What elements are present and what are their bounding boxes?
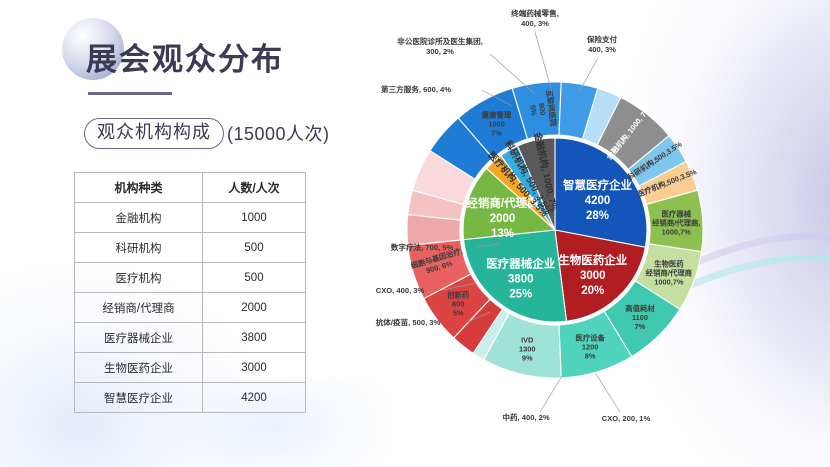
table-row: 医疗机构500 [75, 263, 306, 293]
outer-label-6-0: 医疗器械 [661, 209, 691, 218]
outer-label-8-0: 高值耗材 [625, 304, 655, 313]
callout-nonpublic-hospital-line1: 300, 2% [426, 47, 454, 56]
outer-label-13-2: 5% [453, 308, 464, 317]
callout-digital-therapy-line0: 数字疗法, 700, 5% [391, 242, 454, 252]
callout-cxo-device-line0: CXO, 200, 1% [602, 414, 651, 423]
inner-label-value-3: 2000 [490, 213, 516, 225]
cell-value: 2000 [203, 293, 306, 323]
sunburst-chart: 金融机构, 1000, 7%科研机构,500,3.5%医疗机构,500,3.5%… [330, 0, 830, 467]
outer-label-7-0: 生物医药 [654, 259, 684, 268]
outer-label-10-0: IVD [521, 335, 534, 344]
outer-label-20-2: 5% [528, 104, 538, 116]
cell-name: 医疗器械企业 [75, 323, 203, 353]
outer-label-10-2: 9% [522, 353, 533, 362]
inner-label-pct-3: 13% [491, 228, 514, 240]
outer-label-7-2: 1000,7% [654, 277, 684, 286]
callout-insurance-line0: 保险支付 [586, 34, 618, 44]
cell-name: 智慧医疗企业 [75, 383, 203, 413]
callout-cxo-device-leader [596, 374, 620, 412]
table-row: 智慧医疗企业4200 [75, 383, 306, 413]
table-row: 金融机构1000 [75, 203, 306, 233]
table-row: 经销商/代理商2000 [75, 293, 306, 323]
chart-svg: 金融机构, 1000, 7%科研机构,500,3.5%医疗机构,500,3.5%… [330, 0, 830, 467]
cell-name: 生物医药企业 [75, 353, 203, 383]
outer-label-13-1: 800 [452, 299, 464, 308]
cell-value: 3800 [203, 323, 306, 353]
inner-label-value-1: 3000 [580, 270, 606, 282]
outer-label-8-2: 7% [635, 322, 646, 331]
callout-cxo-bio-line0: CXO, 400, 3% [376, 286, 425, 295]
table-row: 生物医药企业3000 [75, 353, 306, 383]
inner-label-value-0: 4200 [585, 195, 611, 207]
outer-label-7-1: 经销商/代理商 [646, 268, 693, 277]
inner-label-pct-1: 20% [581, 285, 604, 297]
page-title: 展会观众分布 [86, 34, 284, 79]
subtitle-pill: 观众机构构成 [84, 118, 224, 149]
table-row: 科研机构500 [75, 233, 306, 263]
outer-label-9-1: 1200 [582, 342, 598, 351]
inner-label-pct-2: 25% [509, 288, 532, 300]
inner-label-name-0: 智慧医疗企业 [563, 178, 632, 192]
table-header-row: 机构种类 人数/人次 [75, 173, 306, 203]
inner-label-value-2: 3800 [508, 273, 534, 285]
outer-label-6-1: 经销商/代理商, [652, 218, 700, 227]
outer-label-19-1: 1000 [488, 120, 504, 129]
outer-label-9-2: 8% [585, 351, 596, 360]
callout-nonpublic-hospital-line0: 非公医院诊所及医生集团, [397, 36, 483, 46]
inner-label-name-2: 医疗器械企业 [486, 256, 555, 270]
subtitle-count: (15000人次) [227, 120, 330, 146]
title-underline [88, 92, 172, 95]
cell-name: 医疗机构 [75, 263, 203, 293]
callout-third-party-line0: 第三方服务, 600, 4% [381, 84, 451, 94]
table-col-name: 机构种类 [75, 173, 203, 203]
table-row: 医疗器械企业3800 [75, 323, 306, 353]
outer-label-19-0: 健康管理 [482, 111, 512, 120]
table-col-value: 人数/人次 [203, 173, 306, 203]
outer-label-13-0: 创新药 [446, 290, 470, 299]
cell-name: 科研机构 [75, 233, 203, 263]
callout-insurance-line1: 400, 3% [588, 45, 616, 54]
callout-antibody-line0: 抗体/疫苗, 500, 3% [376, 317, 441, 327]
cell-value: 4200 [203, 383, 306, 413]
outer-label-10-1: 1300 [519, 344, 535, 353]
callout-terminal-retail-line1: 400, 3% [521, 19, 549, 28]
inner-label-name-1: 生物医药企业 [558, 253, 627, 267]
callout-tcm-leader [540, 376, 562, 412]
outer-label-6-2: 1000,7% [662, 227, 692, 236]
cell-value: 3000 [203, 353, 306, 383]
cell-value: 500 [203, 233, 306, 263]
cell-value: 1000 [203, 203, 306, 233]
cell-name: 经销商/代理商 [75, 293, 203, 323]
cell-value: 500 [203, 263, 306, 293]
outer-label-19-2: 7% [491, 129, 502, 138]
outer-label-8-1: 1100 [632, 313, 648, 322]
cell-name: 金融机构 [75, 203, 203, 233]
callout-terminal-retail-line0: 终端药械零售, [511, 8, 559, 18]
organization-table: 机构种类 人数/人次 金融机构1000 科研机构500 医疗机构500 经销商/… [74, 172, 306, 413]
inner-label-pct-0: 28% [586, 210, 609, 222]
callout-tcm-line0: 中药, 400, 2% [502, 412, 550, 422]
subtitle-row: 观众机构构成 (15000人次) [84, 118, 330, 149]
outer-label-9-0: 医疗设备 [575, 333, 605, 342]
